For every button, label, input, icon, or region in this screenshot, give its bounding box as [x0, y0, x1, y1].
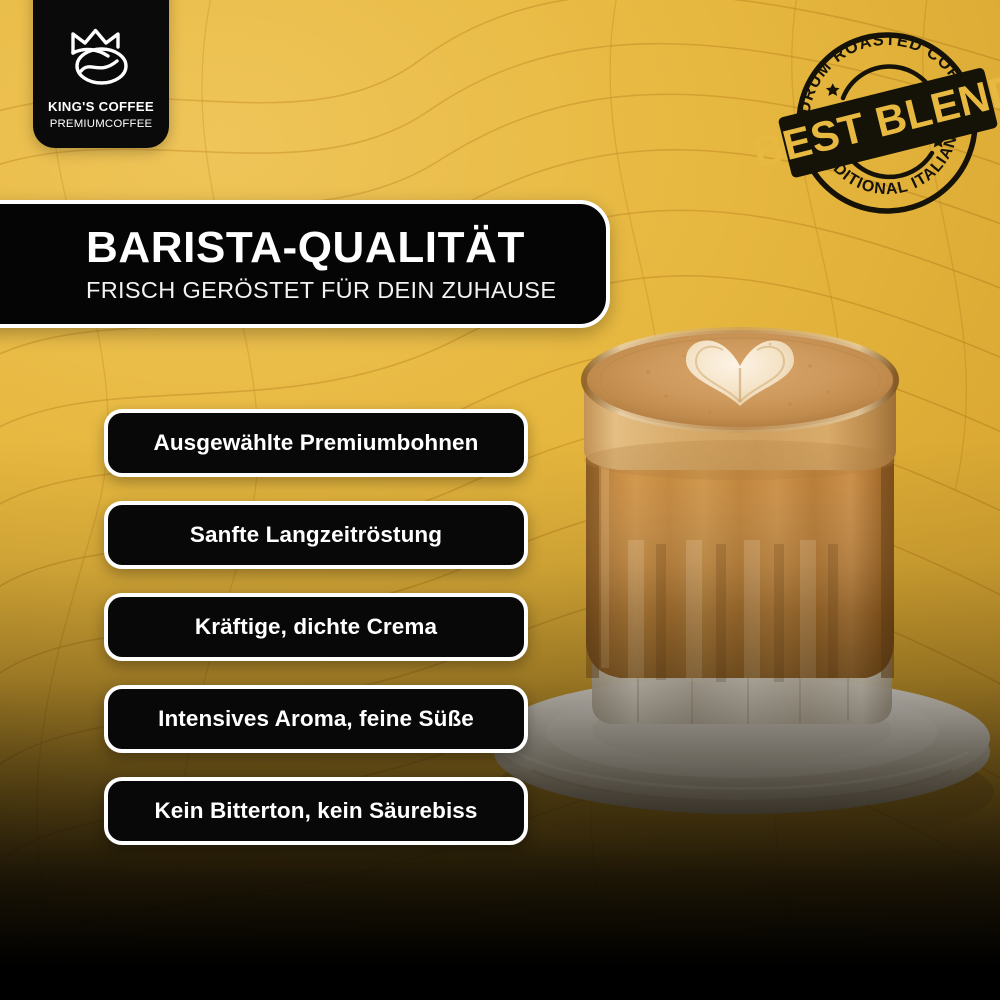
feature-pill-2: Sanfte Langzeitröstung	[104, 501, 528, 569]
feature-pill-4: Intensives Aroma, feine Süße	[104, 685, 528, 753]
brand-logo-card: KING'S COFFEE PREMIUMCOFFEE	[33, 0, 169, 148]
page-subtitle: FRISCH GERÖSTET FÜR DEIN ZUHAUSE	[86, 279, 606, 303]
feature-pill-3: Kräftige, dichte Crema	[104, 593, 528, 661]
feature-list: Ausgewählte Premiumbohnen Sanfte Langzei…	[104, 409, 528, 845]
feature-pill-1: Ausgewählte Premiumbohnen	[104, 409, 528, 477]
feature-pill-label: Sanfte Langzeitröstung	[190, 522, 442, 548]
headline-panel: BARISTA-QUALITÄT FRISCH GERÖSTET FÜR DEI…	[0, 200, 610, 328]
feature-pill-label: Kein Bitterton, kein Säurebiss	[154, 798, 477, 824]
badge-banner-text: BEST BLEND	[748, 65, 1000, 177]
crown-coffee-bean-icon	[64, 27, 138, 89]
brand-tagline: PREMIUMCOFFEE	[50, 119, 153, 130]
page-title: BARISTA-QUALITÄT	[86, 226, 606, 270]
feature-pill-label: Ausgewählte Premiumbohnen	[153, 430, 478, 456]
feature-pill-label: Intensives Aroma, feine Süße	[158, 706, 474, 732]
best-blend-stamp-badge: DRUM ROASTED COFFEE TRADITIONAL ITALIAN …	[786, 22, 988, 224]
poster-canvas: KING'S COFFEE PREMIUMCOFFEE DRUM ROASTED…	[0, 0, 1000, 1000]
feature-pill-label: Kräftige, dichte Crema	[195, 614, 437, 640]
feature-pill-5: Kein Bitterton, kein Säurebiss	[104, 777, 528, 845]
brand-name: KING'S COFFEE	[48, 100, 154, 113]
